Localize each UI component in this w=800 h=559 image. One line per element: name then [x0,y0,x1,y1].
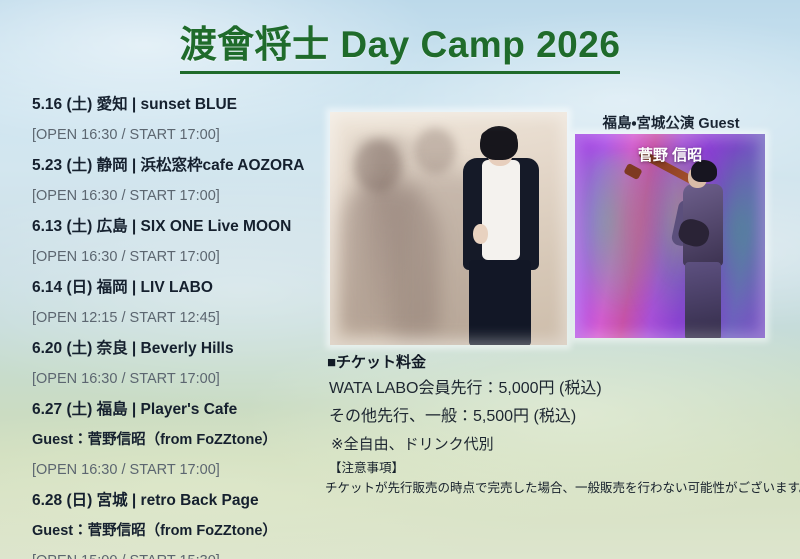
photo-vignette [330,112,567,345]
guest-photo: 菅野 信昭 [575,134,765,338]
schedule-item: 6.13 (土) 広島 | SIX ONE Live MOON [OPEN 16… [32,212,332,273]
guest-name: 菅野 信昭 [575,144,765,165]
schedule-date-venue: 6.20 (土) 奈良 | Beverly Hills [32,334,332,364]
schedule-time: [OPEN 16:30 / START 17:00] [32,120,332,151]
schedule-guest: Guest：菅野信昭（from FoZZtone） [32,516,332,546]
schedule-time: [OPEN 15:00 / START 15:30] [32,546,332,559]
schedule-date-venue: 6.13 (土) 広島 | SIX ONE Live MOON [32,212,332,242]
page-title: 渡會将士 Day Camp 2026 [180,14,621,74]
schedule-date-venue: 5.23 (土) 静岡 | 浜松窓枠cafe AOZORA [32,151,332,181]
ticket-heading: ■チケット料金 [325,350,795,375]
schedule-list: 5.16 (土) 愛知 | sunset BLUE [OPEN 16:30 / … [32,90,332,559]
schedule-item: 6.14 (日) 福岡 | LIV LABO [OPEN 12:15 / STA… [32,273,332,334]
guest-caption: 福島・宮城公演 Guest [575,112,767,133]
ticket-price-member: WATA LABO会員先行：5,000円 (税込) [325,375,795,403]
schedule-time: [OPEN 16:30 / START 17:00] [32,364,332,395]
notice-heading: 【注意事項】 [325,458,795,479]
schedule-time: [OPEN 16:30 / START 17:00] [32,181,332,212]
schedule-time: [OPEN 12:15 / START 12:45] [32,303,332,334]
schedule-guest: Guest：菅野信昭（from FoZZtone） [32,425,332,455]
schedule-date-venue: 6.28 (日) 宮城 | retro Back Page [32,486,332,516]
ticket-price-general: その他先行、一般：5,500円 (税込) [325,403,795,431]
schedule-date-venue: 5.16 (土) 愛知 | sunset BLUE [32,90,332,120]
ticket-note: ※全自由、ドリンク代別 [325,431,795,458]
schedule-item: 6.20 (土) 奈良 | Beverly Hills [OPEN 16:30 … [32,334,332,395]
title-block: 渡會将士 Day Camp 2026 [0,14,800,74]
schedule-date-venue: 6.14 (日) 福岡 | LIV LABO [32,273,332,303]
notice-body: チケットが先行販売の時点で完売した場合、一般販売を行わない可能性がございます。 [325,479,795,498]
schedule-item: 6.28 (日) 宮城 | retro Back Page Guest：菅野信昭… [32,486,332,559]
artist-photo [330,112,567,345]
schedule-time: [OPEN 16:30 / START 17:00] [32,455,332,486]
schedule-item: 5.16 (土) 愛知 | sunset BLUE [OPEN 16:30 / … [32,90,332,151]
schedule-item: 6.27 (土) 福島 | Player's Cafe Guest：菅野信昭（f… [32,395,332,486]
ticket-info: ■チケット料金 WATA LABO会員先行：5,000円 (税込) その他先行、… [325,350,795,498]
schedule-time: [OPEN 16:30 / START 17:00] [32,242,332,273]
schedule-date-venue: 6.27 (土) 福島 | Player's Cafe [32,395,332,425]
schedule-item: 5.23 (土) 静岡 | 浜松窓枠cafe AOZORA [OPEN 16:3… [32,151,332,212]
